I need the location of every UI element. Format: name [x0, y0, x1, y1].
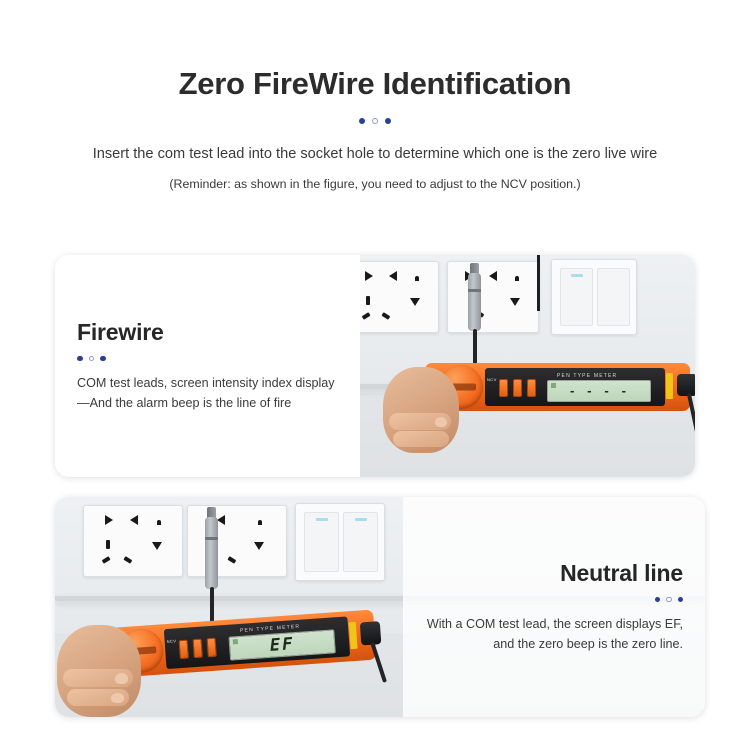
header-reminder: (Reminder: as shown in the figure, you n…	[0, 177, 750, 191]
hanging-wire	[537, 255, 540, 311]
header-dots	[0, 118, 750, 124]
product-infographic-page: Zero FireWire Identification Insert the …	[0, 0, 750, 750]
card-firewire-inner: PEN TYPE METER NCV - - - -	[55, 255, 695, 477]
socket-a-hole-6	[382, 312, 391, 319]
page-title: Zero FireWire Identification	[0, 66, 750, 102]
card-neutral: PEN TYPE METER NCV EF	[55, 497, 705, 717]
hand-bottom	[57, 625, 141, 717]
socket-a-hole-5	[362, 312, 371, 319]
test-probe-band	[468, 289, 481, 292]
header-dot-3	[385, 118, 391, 124]
switch-led-1	[571, 274, 583, 277]
socket-a-hole-1	[365, 271, 373, 281]
wall-light-switch[interactable]	[551, 259, 637, 335]
socket-d-hole-2	[254, 542, 264, 550]
socket-a-hole-3	[410, 298, 420, 306]
meter-button-hold-bottom[interactable]	[179, 640, 189, 660]
card-firewire-text-panel: Firewire COM test leads, screen intensit…	[55, 255, 360, 477]
meter-dial-label-top: NCV	[487, 377, 497, 382]
switch-rocker-2[interactable]	[597, 268, 630, 326]
hand-finger-1-bottom	[63, 669, 133, 687]
meter-output-cable-top	[687, 393, 695, 433]
meter-display-value-top: - - - -	[569, 385, 629, 398]
meter-dial-label-bottom: NCV	[166, 638, 176, 644]
header-dot-1	[359, 118, 365, 124]
socket-c-hole-6	[124, 556, 133, 563]
wall-socket-a	[355, 261, 439, 333]
socket-c-hole-4	[106, 540, 110, 549]
card-firewire: PEN TYPE METER NCV - - - -	[55, 255, 695, 477]
socket-a-pin	[415, 276, 419, 281]
card-firewire-dot-2	[89, 356, 95, 362]
test-probe-body-2	[205, 517, 218, 589]
switch-rocker-1[interactable]	[560, 268, 593, 326]
meter-label-yellow-top	[666, 373, 673, 399]
wall-socket-c	[83, 505, 183, 577]
card-firewire-dots	[77, 356, 106, 362]
meter-lcd-top: - - - -	[547, 380, 651, 402]
wall-socket-d	[187, 505, 287, 577]
hand-finger-1-top	[389, 413, 451, 430]
socket-c-pin	[157, 520, 161, 525]
card-firewire-dot-3	[100, 356, 106, 362]
card-firewire-title: Firewire	[77, 319, 164, 346]
meter-jack-top	[677, 374, 695, 396]
card-neutral-dot-1	[655, 597, 661, 603]
header-section: Zero FireWire Identification Insert the …	[0, 0, 750, 191]
meter-display-value-bottom: EF	[269, 634, 295, 656]
socket-d-pin	[258, 520, 262, 525]
meter-button-select-top[interactable]	[527, 379, 536, 397]
lcd-indicator-bottom	[233, 639, 238, 644]
card-neutral-dot-3	[678, 597, 684, 603]
meter-face-top: PEN TYPE METER NCV - - - -	[485, 368, 665, 406]
hand-nail-2-bottom	[111, 693, 124, 703]
switch-led-2	[316, 518, 328, 521]
hand-finger-2-top	[393, 431, 449, 447]
hand-nail-1-bottom	[115, 673, 128, 684]
header-subtitle: Insert the com test lead into the socket…	[0, 142, 750, 166]
socket-b-hole-2	[489, 271, 497, 281]
wall-light-switch-2[interactable]	[295, 503, 385, 581]
card-neutral-body: With a COM test lead, the screen display…	[425, 615, 683, 654]
meter-lcd-bottom: EF	[228, 629, 335, 660]
card-firewire-body: COM test leads, screen intensity index d…	[77, 374, 338, 413]
meter-button-hold-top[interactable]	[499, 379, 508, 397]
socket-d-hole-3	[228, 556, 237, 563]
socket-a-hole-2	[389, 271, 397, 281]
socket-b-pin	[515, 276, 519, 281]
meter-button-range-top[interactable]	[513, 379, 522, 397]
pen-meter-top: PEN TYPE METER NCV - - - -	[425, 363, 690, 411]
switch-led-3	[355, 518, 367, 521]
socket-a-hole-4	[366, 296, 370, 305]
meter-button-select-bottom[interactable]	[207, 638, 217, 658]
socket-c-hole-2	[130, 515, 138, 525]
switch-rocker-3[interactable]	[304, 512, 339, 572]
meter-output-cable-bottom	[370, 642, 387, 683]
wall-socket-b	[447, 261, 539, 333]
photo-firewire-scene: PEN TYPE METER NCV - - - -	[355, 255, 695, 477]
socket-b-hole-3	[510, 298, 520, 306]
card-neutral-title: Neutral line	[560, 560, 683, 587]
switch-rocker-4[interactable]	[343, 512, 378, 572]
card-firewire-dot-1	[77, 356, 83, 362]
card-neutral-inner: PEN TYPE METER NCV EF	[55, 497, 705, 717]
socket-c-hole-5	[102, 556, 111, 563]
lcd-indicator-top	[551, 383, 556, 388]
card-neutral-text-panel: Neutral line With a COM test lead, the s…	[403, 497, 705, 717]
card-neutral-dot-2	[666, 597, 672, 603]
meter-button-range-bottom[interactable]	[193, 639, 203, 659]
meter-brand-text-top: PEN TYPE METER	[557, 373, 617, 379]
header-subtitle-text: Insert the com test lead into the socket…	[93, 146, 658, 162]
test-probe-body	[468, 273, 481, 331]
socket-d-hole-1	[217, 515, 225, 525]
hand-nail-1-top	[435, 417, 447, 427]
socket-c-hole-3	[152, 542, 162, 550]
test-probe-band-2	[205, 537, 218, 540]
hand-finger-2-bottom	[67, 689, 129, 706]
header-dot-2	[372, 118, 378, 124]
socket-c-hole-1	[105, 515, 113, 525]
card-neutral-dots	[655, 597, 684, 603]
hand-top	[383, 367, 459, 453]
